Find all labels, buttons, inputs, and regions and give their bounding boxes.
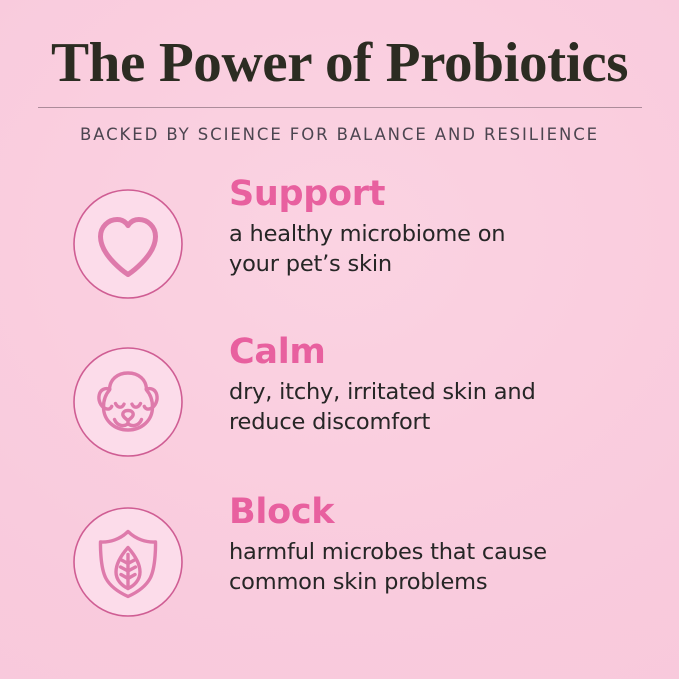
page-title: The Power of Probiotics <box>0 31 679 95</box>
page-subtitle: BACKED BY SCIENCE FOR BALANCE AND RESILI… <box>0 125 679 144</box>
feature-text-calm: Calm dry, itchy, irritated skin and redu… <box>229 330 659 437</box>
feature-description-line: common skin problems <box>229 567 659 597</box>
feature-description-line: reduce discomfort <box>229 407 659 437</box>
probiotics-benefits-poster: The Power of Probiotics BACKED BY SCIENC… <box>0 0 679 679</box>
heart-icon <box>72 188 184 300</box>
feature-title: Calm <box>229 330 659 374</box>
shield-leaf-icon <box>72 506 184 618</box>
dog-face-icon <box>72 346 184 458</box>
feature-text-support: Support a healthy microbiome on your pet… <box>229 172 659 279</box>
feature-description: dry, itchy, irritated skin and reduce di… <box>229 377 659 437</box>
feature-description-line: harmful microbes that cause <box>229 537 659 567</box>
feature-text-block: Block harmful microbes that cause common… <box>229 490 659 597</box>
header-divider <box>38 107 642 108</box>
feature-row-support: Support a healthy microbiome on your pet… <box>0 172 679 322</box>
feature-title: Support <box>229 172 659 216</box>
feature-description-line: your pet’s skin <box>229 249 659 279</box>
feature-row-calm: Calm dry, itchy, irritated skin and redu… <box>0 330 679 480</box>
feature-title: Block <box>229 490 659 534</box>
feature-row-block: Block harmful microbes that cause common… <box>0 490 679 640</box>
feature-description-line: a healthy microbiome on <box>229 219 659 249</box>
feature-description-line: dry, itchy, irritated skin and <box>229 377 659 407</box>
feature-description: a healthy microbiome on your pet’s skin <box>229 219 659 279</box>
feature-description: harmful microbes that cause common skin … <box>229 537 659 597</box>
